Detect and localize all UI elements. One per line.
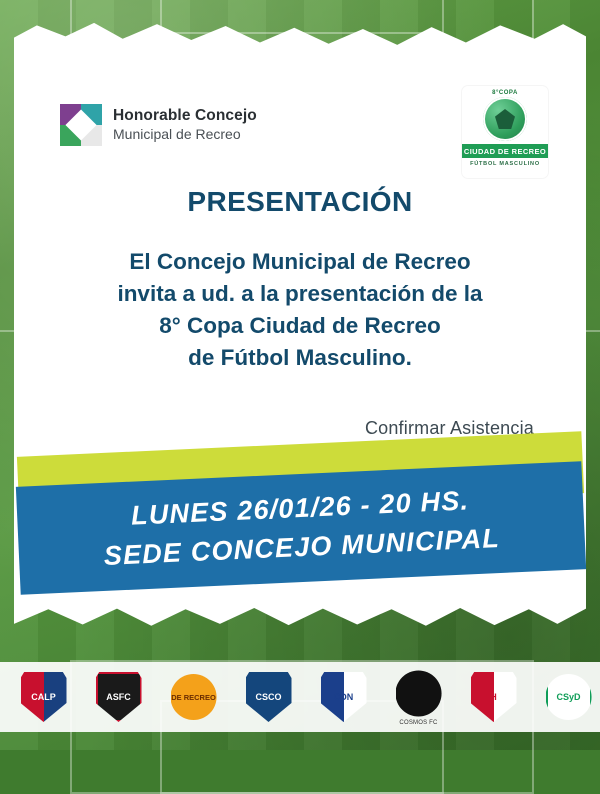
squares-diamond-logo-icon: [60, 104, 102, 146]
list-item: CSCO: [238, 672, 300, 722]
organization-line2: Municipal de Recreo: [113, 126, 257, 143]
club-caption-5: COSMOS FC: [388, 720, 450, 726]
club-name-3: CSCO: [255, 692, 281, 702]
club-crest-cosmos-icon: [396, 669, 442, 719]
club-crest-huracan-icon: H: [471, 672, 517, 722]
list-item: DE RECREO: [163, 672, 225, 722]
pitch-goal-top: [160, 0, 444, 34]
club-name-4: CDN: [334, 692, 354, 702]
list-item: CDN: [313, 672, 375, 722]
copa-badge-sub-text: FÚTBOL MASCULINO: [470, 161, 540, 167]
list-item: ASFC: [88, 672, 150, 722]
invitation-text: El Concejo Municipal de Recreo invita a …: [14, 246, 586, 374]
list-item: H: [463, 672, 525, 722]
club-crest-strip: CALP ASFC DE RECREO CSCO CDN COSMOS FC H…: [0, 662, 600, 732]
club-name-2: DE RECREO: [171, 693, 216, 702]
list-item: CALP: [13, 672, 75, 722]
list-item: COSMOS FC: [388, 669, 450, 726]
copa-badge-top-text: 8°COPA: [492, 90, 518, 96]
club-crest-asfc-icon: ASFC: [96, 672, 142, 722]
invitation-line2: invita a ud. a la presentación de la: [14, 278, 586, 310]
invitation-line3: 8° Copa Ciudad de Recreo: [14, 310, 586, 342]
club-crest-cdn-icon: CDN: [321, 672, 367, 722]
club-crest-calp-icon: CALP: [21, 672, 67, 722]
club-name-7: CSyD: [556, 692, 580, 702]
club-crest-csco-icon: CSCO: [246, 672, 292, 722]
copa-badge-band-text: CIUDAD DE RECREO: [462, 144, 548, 158]
invitation-line4: de Fútbol Masculino.: [14, 342, 586, 374]
soccer-ball-icon: [483, 97, 527, 141]
page-title: PRESENTACIÓN: [14, 186, 586, 218]
club-name-6: H: [490, 692, 497, 702]
club-name-1: ASFC: [106, 692, 131, 702]
club-crest-csyd-icon: CSyD: [546, 672, 592, 722]
invitation-line1: El Concejo Municipal de Recreo: [14, 246, 586, 278]
organization-logo-block: Honorable Concejo Municipal de Recreo: [60, 104, 257, 146]
club-name-0: CALP: [31, 692, 56, 702]
copa-badge: 8°COPA CIUDAD DE RECREO FÚTBOL MASCULINO: [462, 86, 548, 178]
list-item: CSyD: [538, 672, 600, 722]
club-crest-defensores-icon: DE RECREO: [171, 672, 217, 722]
organization-line1: Honorable Concejo: [113, 107, 257, 126]
